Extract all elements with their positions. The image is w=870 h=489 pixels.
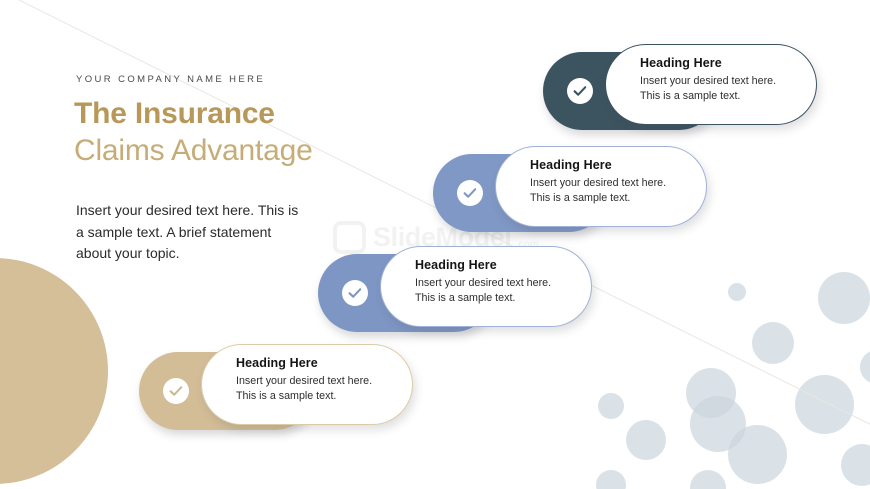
decorative-dot — [795, 375, 854, 434]
title-line-1: The Insurance — [74, 96, 404, 133]
step-content-card-2: Heading Here Insert your desired text he… — [495, 146, 707, 227]
slide-canvas: SlideModel .com YOUR COMPANY NAME HERE T… — [0, 0, 870, 489]
step-content-card-3: Heading Here Insert your desired text he… — [380, 246, 592, 327]
step-content-card-1: Heading Here Insert your desired text he… — [605, 44, 817, 125]
step-text-line-1: Insert your desired text here. — [530, 176, 706, 191]
step-heading-3: Heading Here — [415, 258, 591, 272]
step-text-1: Insert your desired text here. This is a… — [640, 74, 816, 104]
step-text-3: Insert your desired text here. This is a… — [415, 276, 591, 306]
beige-circle-shape — [0, 258, 108, 484]
watermark-logo-icon — [333, 221, 366, 254]
decorative-dot — [752, 322, 794, 364]
decorative-dot — [596, 470, 626, 489]
check-circle-icon — [342, 280, 368, 306]
step-text-4: Insert your desired text here. This is a… — [236, 374, 412, 404]
check-circle-icon — [457, 180, 483, 206]
decorative-dot — [690, 396, 746, 452]
decorative-dot — [860, 350, 870, 384]
title-line-2: Claims Advantage — [74, 133, 404, 170]
decorative-dot — [626, 420, 666, 460]
decorative-dot — [728, 425, 787, 484]
step-content-card-4: Heading Here Insert your desired text he… — [201, 344, 413, 425]
step-heading-1: Heading Here — [640, 56, 816, 70]
decorative-dot — [686, 368, 736, 418]
step-text-2: Insert your desired text here. This is a… — [530, 176, 706, 206]
step-text-line-2: This is a sample text. — [640, 89, 816, 104]
decorative-dot — [728, 283, 746, 301]
company-name-eyebrow: YOUR COMPANY NAME HERE — [76, 74, 265, 85]
page-title: The Insurance Claims Advantage — [74, 96, 404, 169]
step-text-line-2: This is a sample text. — [530, 191, 706, 206]
step-heading-4: Heading Here — [236, 356, 412, 370]
intro-paragraph: Insert your desired text here. This is a… — [76, 200, 301, 265]
decorative-dot — [841, 444, 870, 486]
decorative-dot — [598, 393, 624, 419]
step-text-line-2: This is a sample text. — [236, 389, 412, 404]
step-text-line-1: Insert your desired text here. — [640, 74, 816, 89]
check-circle-icon — [163, 378, 189, 404]
check-circle-icon — [567, 78, 593, 104]
step-text-line-1: Insert your desired text here. — [415, 276, 591, 291]
decorative-dot — [690, 470, 726, 489]
decorative-dot — [818, 272, 870, 324]
step-text-line-2: This is a sample text. — [415, 291, 591, 306]
step-heading-2: Heading Here — [530, 158, 706, 172]
step-text-line-1: Insert your desired text here. — [236, 374, 412, 389]
